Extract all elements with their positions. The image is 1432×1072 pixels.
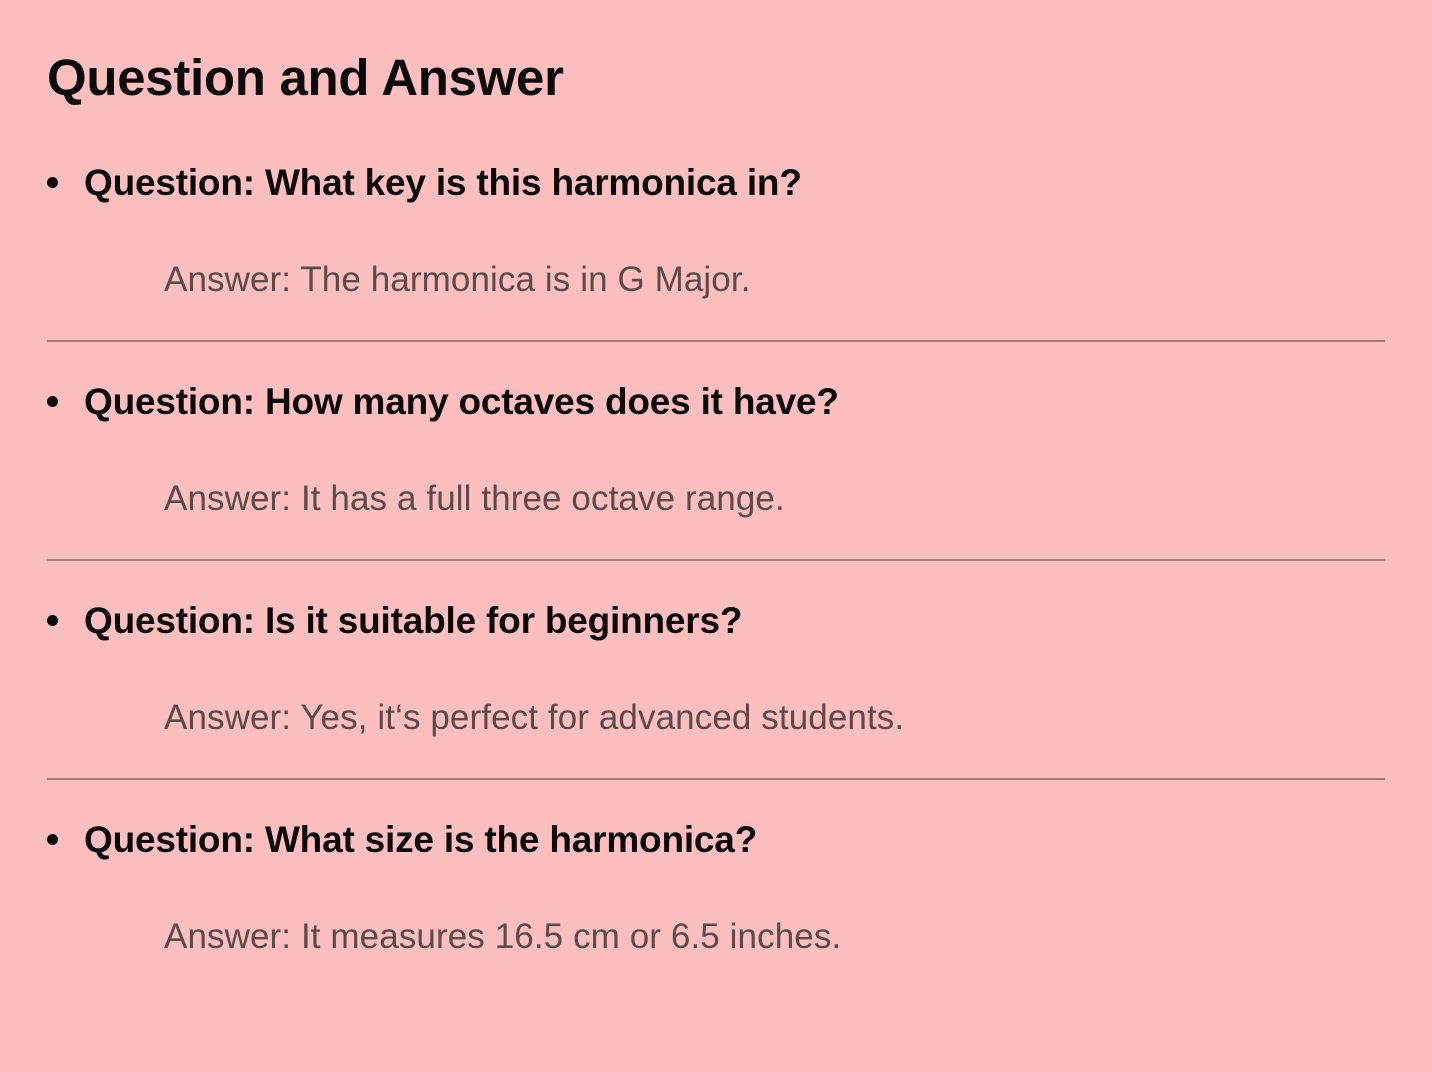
qa-question-row: Question: What size is the harmonica? An… bbox=[0, 817, 1432, 958]
qa-question-text: Question: What key is this harmonica in? bbox=[84, 160, 1385, 206]
qa-item: Question: How many octaves does it have?… bbox=[0, 379, 1432, 598]
bullet-dot-icon bbox=[47, 396, 58, 407]
qa-answer-text: Answer: It measures 16.5 cm or 6.5 inche… bbox=[164, 916, 1385, 958]
qa-spacer bbox=[0, 780, 1432, 817]
qa-item: Question: Is it suitable for beginners? … bbox=[0, 598, 1432, 817]
qa-list: Question: What key is this harmonica in?… bbox=[0, 160, 1432, 958]
qa-question-text: Question: How many octaves does it have? bbox=[84, 379, 1385, 425]
qa-question-row: Question: How many octaves does it have?… bbox=[0, 379, 1432, 520]
qa-page: Question and Answer Question: What key i… bbox=[0, 0, 1432, 1072]
qa-item: Question: What size is the harmonica? An… bbox=[0, 817, 1432, 958]
bullet-dot-icon bbox=[47, 177, 58, 188]
bullet-dot-icon bbox=[47, 834, 58, 845]
bullet-dot-icon bbox=[47, 615, 58, 626]
qa-answer-text: Answer: Yes, it‘s perfect for advanced s… bbox=[164, 697, 1385, 739]
qa-question-row: Question: What key is this harmonica in?… bbox=[0, 160, 1432, 301]
qa-question-text: Question: What size is the harmonica? bbox=[84, 817, 1385, 863]
page-title: Question and Answer bbox=[47, 46, 564, 110]
qa-answer-text: Answer: It has a full three octave range… bbox=[164, 478, 1385, 520]
qa-question-row: Question: Is it suitable for beginners? … bbox=[0, 598, 1432, 739]
qa-spacer bbox=[0, 342, 1432, 379]
qa-item: Question: What key is this harmonica in?… bbox=[0, 160, 1432, 379]
qa-answer-text: Answer: The harmonica is in G Major. bbox=[164, 259, 1385, 301]
qa-spacer bbox=[0, 561, 1432, 598]
qa-question-text: Question: Is it suitable for beginners? bbox=[84, 598, 1385, 644]
